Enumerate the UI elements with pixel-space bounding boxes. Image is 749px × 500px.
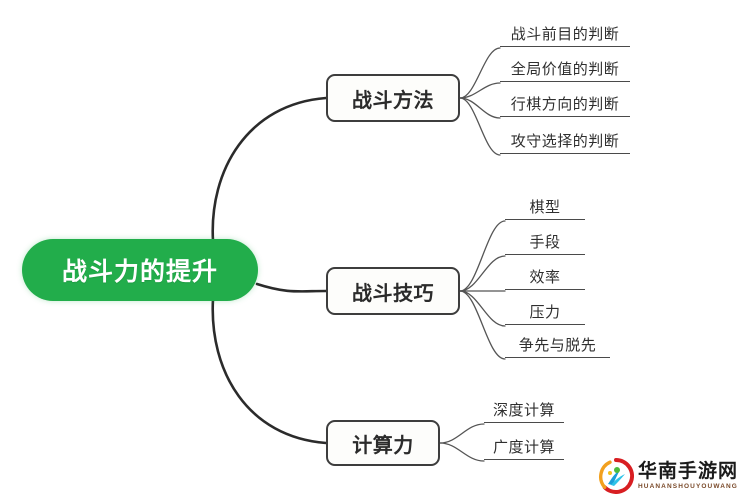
root-node-label: 战斗力的提升 [62,252,218,288]
branch-label: 计算力 [352,429,414,458]
leaf-label: 攻守选择的判断 [500,132,630,153]
leaf-label: 棋型 [505,198,585,219]
branch-label: 战斗方法 [352,84,434,113]
connector-branch-b-leaf-2 [460,256,505,291]
connector-branch-c-leaf-2 [440,443,484,461]
leaf-item[interactable]: 行棋方向的判断 [500,95,630,117]
watermark-title: 华南手游网 [638,461,738,482]
connector-branch-a-leaf-2 [460,83,500,98]
leaf-underline [505,289,585,290]
leaf-underline [484,459,564,460]
connector-root-to-branch-c [213,299,326,443]
leaf-underline [500,46,630,47]
branch-node-calculation[interactable]: 计算力 [326,420,440,466]
leaf-underline [500,153,630,154]
leaf-underline [505,219,585,220]
leaf-item[interactable]: 手段 [505,233,585,255]
leaf-label: 全局价值的判断 [500,60,630,81]
leaf-item[interactable]: 攻守选择的判断 [500,132,630,154]
leaf-item[interactable]: 棋型 [505,198,585,220]
leaf-item[interactable]: 效率 [505,268,585,290]
branch-node-battle-method[interactable]: 战斗方法 [326,74,460,122]
branch-node-battle-skill[interactable]: 战斗技巧 [326,267,460,315]
site-logo-icon [598,458,634,494]
leaf-label: 战斗前目的判断 [500,25,630,46]
leaf-item[interactable]: 广度计算 [484,438,564,460]
leaf-label: 广度计算 [484,438,564,459]
leaf-underline [484,422,564,423]
leaf-label: 手段 [505,233,585,254]
watermark: 华南手游网 HUANANSHOUYOUWANG [598,455,744,497]
leaf-item[interactable]: 全局价值的判断 [500,60,630,82]
leaf-underline [500,116,630,117]
connector-branch-a-leaf-4 [460,98,500,155]
leaf-underline [505,324,585,325]
root-node[interactable]: 战斗力的提升 [22,239,258,301]
leaf-label: 效率 [505,268,585,289]
mindmap-canvas: 战斗力的提升 战斗方法 战斗前目的判断 全局价值的判断 行棋方向的判断 攻守选择… [0,0,749,500]
connector-root-to-branch-a [213,98,326,241]
connector-branch-a-leaf-3 [460,98,500,118]
connector-branch-b-leaf-5 [460,291,505,359]
connector-branch-c-leaf-1 [440,424,484,443]
leaf-label: 争先与脱先 [505,336,610,357]
leaf-label: 行棋方向的判断 [500,95,630,116]
leaf-item[interactable]: 深度计算 [484,401,564,423]
watermark-text: 华南手游网 HUANANSHOUYOUWANG [638,461,738,491]
connector-root-to-branch-b [257,284,326,291]
branch-label: 战斗技巧 [352,277,434,306]
leaf-item[interactable]: 压力 [505,303,585,325]
leaf-underline [505,254,585,255]
watermark-subtitle: HUANANSHOUYOUWANG [638,482,738,491]
leaf-item[interactable]: 战斗前目的判断 [500,25,630,47]
connector-branch-a-leaf-1 [460,48,500,98]
leaf-underline [500,81,630,82]
leaf-label: 压力 [505,303,585,324]
leaf-underline [505,357,610,358]
connector-branch-b-leaf-4 [460,291,505,326]
leaf-label: 深度计算 [484,401,564,422]
connector-branch-b-leaf-1 [460,221,505,291]
leaf-item[interactable]: 争先与脱先 [505,336,610,358]
